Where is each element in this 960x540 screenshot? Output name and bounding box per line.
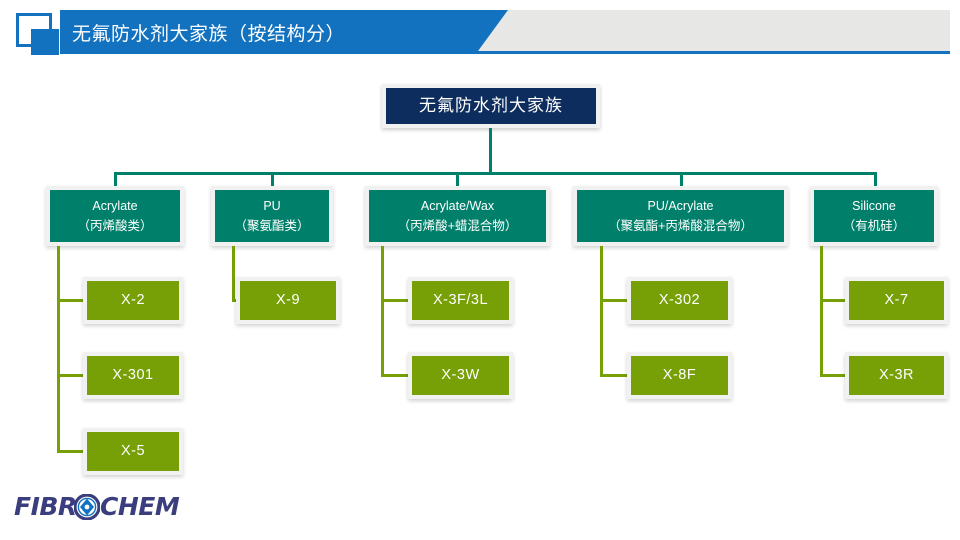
- category-node-acrylate-wax[interactable]: Acrylate/Wax （丙烯酸+蜡混合物）: [365, 186, 550, 246]
- category-node-acrylate[interactable]: Acrylate （丙烯酸类）: [46, 186, 184, 246]
- category-label-en: Silicone: [852, 198, 896, 215]
- root-node-label: 无氟防水剂大家族: [419, 95, 563, 118]
- category-label-en: Acrylate: [92, 198, 137, 215]
- connector-horizontal-bus: [114, 172, 877, 175]
- category-label-cn: （聚氨酯+丙烯酸混合物）: [608, 218, 753, 235]
- product-label: X-8F: [663, 366, 696, 386]
- slide-canvas: 无氟防水剂大家族（按结构分） 无氟防水剂大家族 Acrylate （丙烯酸类） …: [0, 0, 960, 540]
- connector-root-stem: [489, 128, 492, 174]
- connector-branch-x7: [820, 299, 848, 302]
- header-square-filled-icon: [31, 29, 59, 55]
- product-label: X-9: [276, 291, 300, 311]
- header-gray-panel: [478, 10, 950, 51]
- connector-branch-x5: [57, 450, 86, 453]
- connector-branch-x301: [57, 374, 86, 377]
- product-label: X-3W: [441, 366, 479, 386]
- connector-branch-x3f3l: [381, 299, 411, 302]
- category-label-en: Acrylate/Wax: [421, 198, 494, 215]
- product-label: X-5: [121, 442, 145, 462]
- product-node-x9[interactable]: X-9: [236, 277, 340, 324]
- product-label: X-301: [112, 366, 153, 386]
- product-label: X-3R: [879, 366, 914, 386]
- product-label: X-7: [884, 291, 908, 311]
- page-title: 无氟防水剂大家族（按结构分）: [72, 10, 345, 54]
- category-label-cn: （丙烯酸类）: [77, 218, 152, 235]
- category-label-cn: （聚氨酯类）: [234, 218, 309, 235]
- connector-branch-x3w: [381, 374, 411, 377]
- connector-branch-x302: [600, 299, 630, 302]
- root-node[interactable]: 无氟防水剂大家族: [382, 84, 600, 128]
- connector-spine-acrylate: [57, 246, 60, 453]
- connector-branch-x3r: [820, 374, 848, 377]
- category-node-pu-acrylate[interactable]: PU/Acrylate （聚氨酯+丙烯酸混合物）: [573, 186, 788, 246]
- connector-spine-silicone: [820, 246, 823, 377]
- category-node-pu[interactable]: PU （聚氨酯类）: [211, 186, 333, 246]
- header-underline: [477, 51, 950, 54]
- product-label: X-302: [659, 291, 700, 311]
- product-node-x8f[interactable]: X-8F: [627, 352, 732, 399]
- product-node-x3f3l[interactable]: X-3F/3L: [408, 277, 513, 324]
- product-label: X-3F/3L: [433, 291, 488, 311]
- category-label-en: PU/Acrylate: [648, 198, 714, 215]
- product-node-x3r[interactable]: X-3R: [845, 352, 948, 399]
- company-logo: FIBR CHEM: [14, 492, 194, 526]
- product-label: X-2: [121, 291, 145, 311]
- product-node-x7[interactable]: X-7: [845, 277, 948, 324]
- product-node-x5[interactable]: X-5: [83, 428, 183, 475]
- connector-spine-pu: [232, 246, 235, 302]
- product-node-x3w[interactable]: X-3W: [408, 352, 513, 399]
- category-label-cn: （有机硅）: [843, 218, 906, 235]
- category-node-silicone[interactable]: Silicone （有机硅）: [810, 186, 938, 246]
- connector-spine-acrylate-wax: [381, 246, 384, 377]
- logo-target-icon: [74, 494, 100, 520]
- connector-branch-x8f: [600, 374, 630, 377]
- product-node-x2[interactable]: X-2: [83, 277, 183, 324]
- logo-text-part2: CHEM: [100, 492, 179, 521]
- product-node-x302[interactable]: X-302: [627, 277, 732, 324]
- connector-branch-x2: [57, 299, 86, 302]
- product-node-x301[interactable]: X-301: [83, 352, 183, 399]
- connector-spine-pu-acrylate: [600, 246, 603, 377]
- category-label-en: PU: [263, 198, 280, 215]
- category-label-cn: （丙烯酸+蜡混合物）: [398, 218, 518, 235]
- logo-text-part1: FIBR: [14, 492, 77, 521]
